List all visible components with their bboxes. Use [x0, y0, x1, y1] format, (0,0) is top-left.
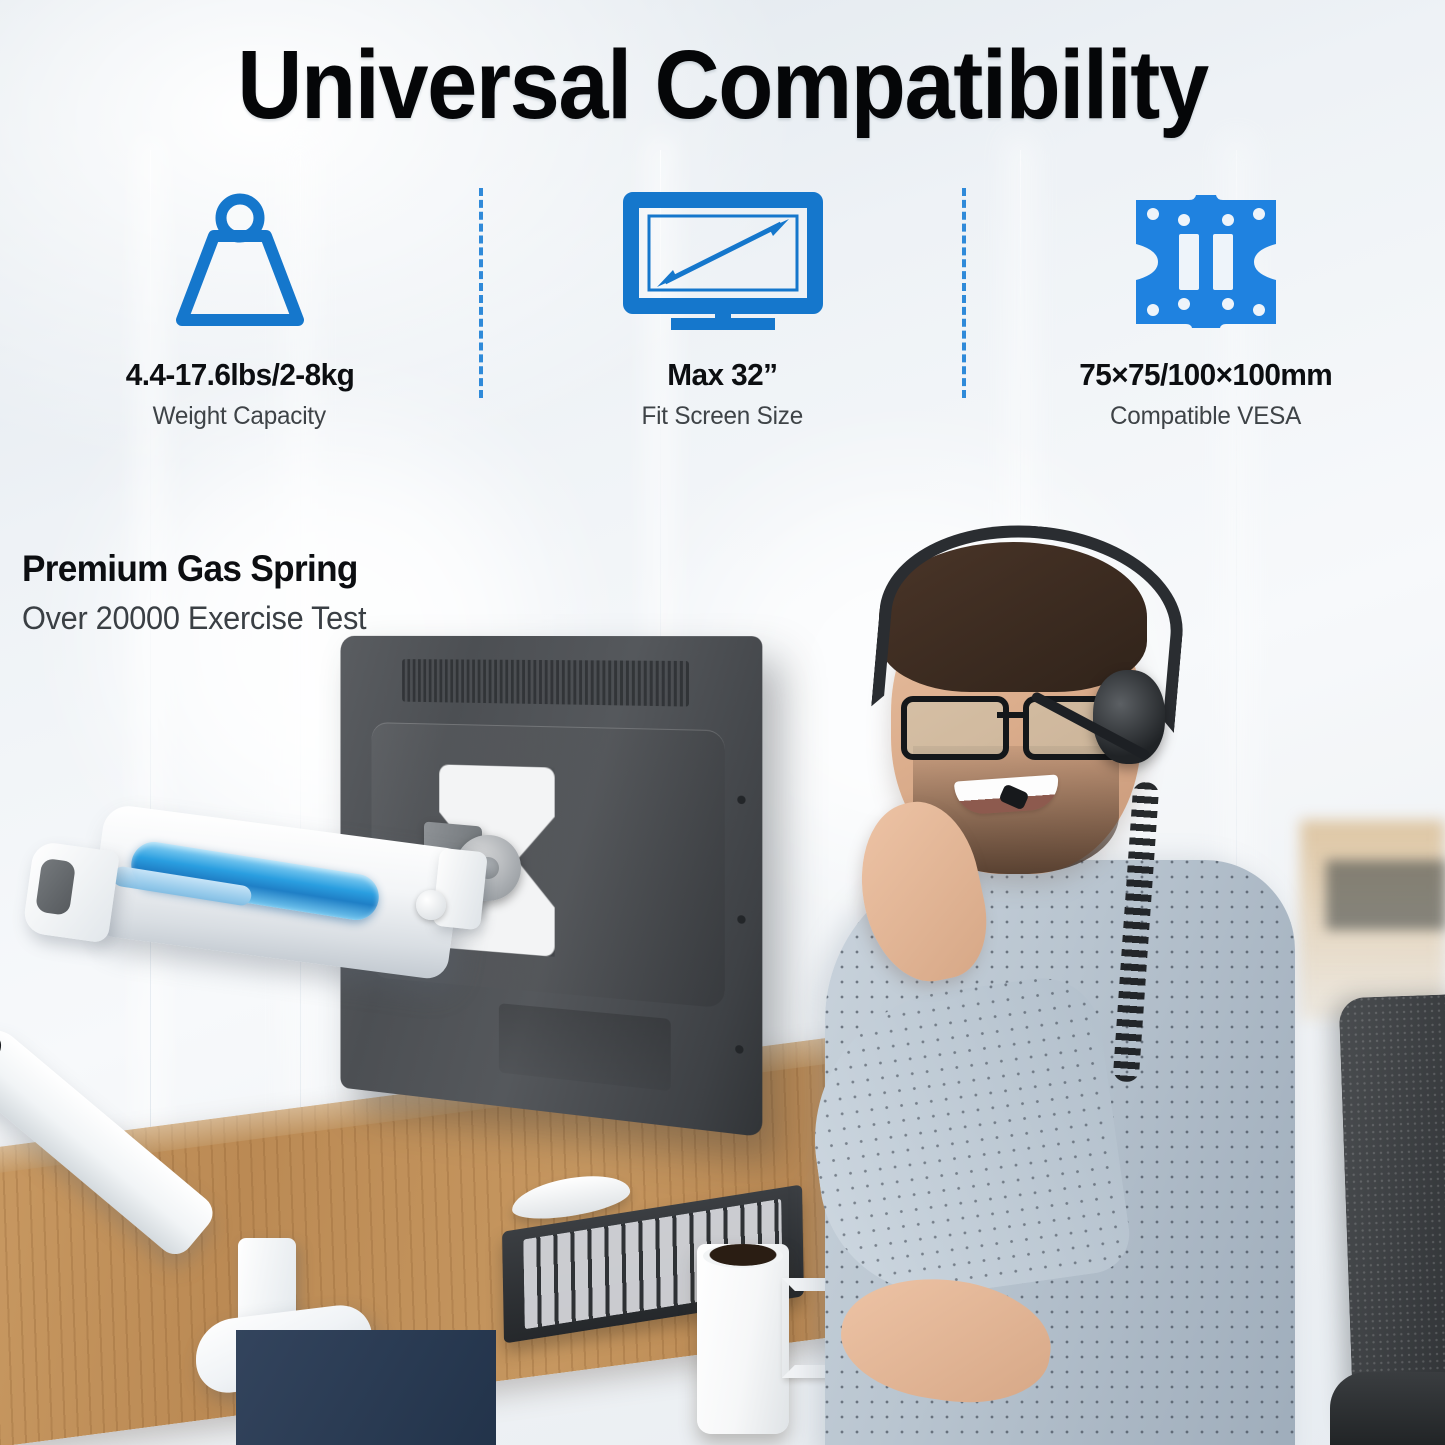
monitor-port-cover: [499, 1003, 671, 1091]
person-with-headset: [805, 520, 1325, 1445]
product-photo: [0, 0, 1445, 1445]
monitor-vent: [402, 659, 688, 706]
product-feature-banner: Universal Compatibility 4.4-17.6lbs/2-8k…: [0, 0, 1445, 1445]
office-chair-armrest: [1330, 1372, 1445, 1445]
person-jeans: [236, 1330, 496, 1445]
arm-end-cap: [22, 840, 120, 943]
office-chair: [1339, 994, 1445, 1428]
tension-knob: [416, 890, 446, 920]
arm-joint: [432, 848, 488, 931]
coffee-mug: [697, 1244, 789, 1434]
